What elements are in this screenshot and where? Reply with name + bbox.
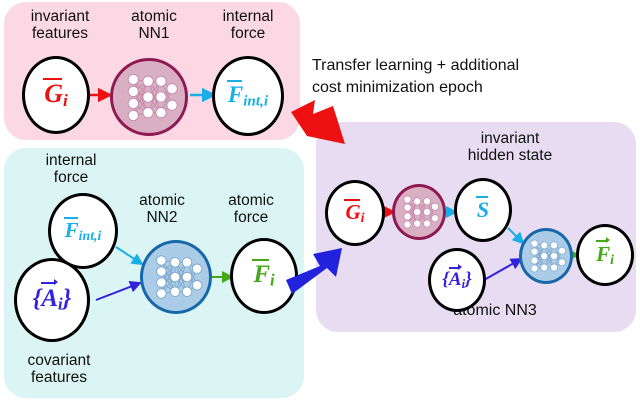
transfer-learning-note: Transfer learning + additional cost mini… — [312, 55, 612, 98]
node-atomic-force-nn3: Fi — [576, 224, 634, 286]
nn2-graph — [143, 243, 209, 311]
symbol-F-vec: Fi — [596, 244, 614, 267]
node-invariant-features: Gi — [22, 56, 90, 134]
nn3a-graph — [395, 187, 443, 237]
symbol-G-bar: Gi — [44, 81, 68, 109]
symbol-G-bar-2: Gi — [345, 202, 364, 225]
symbol-A-set: {Ai} — [33, 286, 72, 313]
nn3-force-block — [519, 228, 573, 284]
symbol-F-int-bar: Fint,i — [228, 83, 268, 109]
node-covariant-features-nn3: {Ai} — [428, 248, 486, 312]
node-invariant-features-nn3: Gi — [325, 180, 385, 246]
symbol-A-set-2: {Ai} — [442, 270, 471, 290]
node-covariant-features: {Ai} — [14, 258, 90, 342]
label-atomic-nn3: atomic NN3 — [400, 302, 590, 320]
red-transfer-arrow — [288, 98, 350, 154]
symbol-S-bar: S — [477, 199, 489, 221]
label-internal-force: internal force — [200, 8, 296, 43]
blue-transfer-arrow — [286, 244, 350, 300]
label-atomic-nn2: atomic NN2 — [118, 192, 206, 227]
label-covariant-features: covariant features — [4, 352, 114, 387]
node-hidden-state: S — [454, 178, 512, 242]
nn1-graph — [113, 61, 185, 133]
node-internal-force: Fint,i — [212, 56, 284, 136]
label-atomic-nn1: atomic NN1 — [110, 8, 198, 43]
node-internal-force-input: Fint,i — [48, 193, 118, 269]
symbol-F-int-bar-2: Fint,i — [65, 220, 102, 243]
symbol-F-bar: Fi — [253, 262, 274, 289]
label-invariant-hidden-state: invariant hidden state — [430, 130, 590, 165]
atomic-nn2-block — [140, 240, 212, 314]
nn3b-graph — [522, 231, 570, 281]
diagram-canvas: invariant features atomic NN1 internal f… — [0, 0, 640, 408]
nn3-hidden-block — [392, 184, 446, 240]
label-atomic-force: atomic force — [206, 192, 296, 227]
atomic-nn1-block — [110, 58, 188, 136]
label-internal-force-2: internal force — [18, 152, 124, 187]
label-invariant-features: invariant features — [8, 8, 112, 43]
